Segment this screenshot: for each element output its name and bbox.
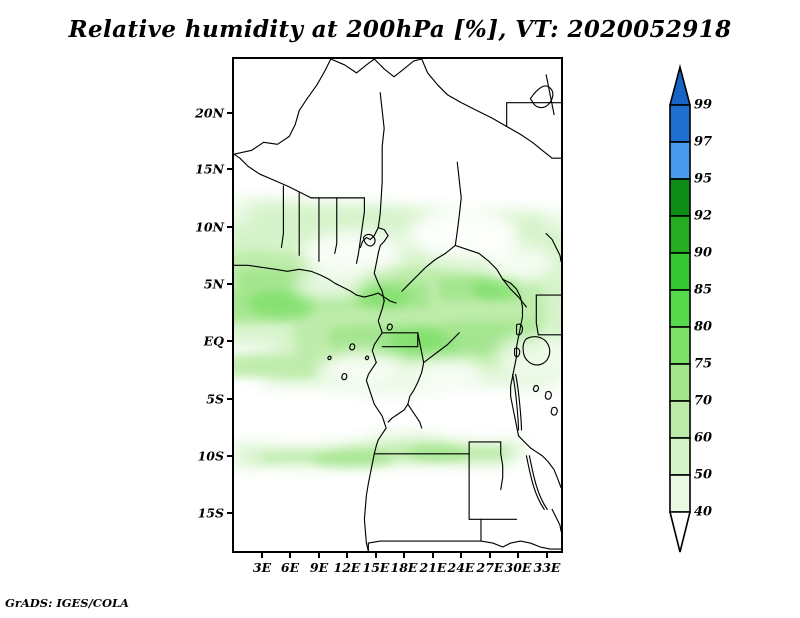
colorbar-band-80-85: [670, 290, 690, 327]
y-axis-label-20n: 20N: [176, 106, 224, 121]
x-tick: [517, 553, 519, 558]
y-axis-label-5n: 5N: [176, 277, 224, 292]
x-tick: [489, 553, 491, 558]
x-tick: [432, 553, 434, 558]
colorbar-label-75: 75: [694, 357, 712, 372]
colorbar-band-90-92: [670, 216, 690, 253]
grads-map-figure: Relative humidity at 200hPa [%], VT: 202…: [0, 0, 800, 618]
colorbar-label-97: 97: [694, 135, 712, 150]
colorbar-arrow-top: [670, 67, 690, 105]
colorbar-label-50: 50: [694, 468, 712, 483]
colorbar-label-85: 85: [694, 283, 712, 298]
colorbar-label-90: 90: [694, 246, 712, 261]
colorbar-label-95: 95: [694, 172, 712, 187]
colorbar-band-60-70: [670, 401, 690, 438]
colorbar-band-75-80: [670, 327, 690, 364]
x-tick: [318, 553, 320, 558]
colorbar-band-92-95: [670, 179, 690, 216]
x-tick: [546, 553, 548, 558]
colorbar-label-60: 60: [694, 431, 712, 446]
y-tick: [227, 340, 232, 342]
x-tick: [375, 553, 377, 558]
colorbar-label-40: 40: [694, 505, 712, 520]
footer-attribution: GrADS: IGES/COLA: [5, 596, 129, 610]
x-tick: [346, 553, 348, 558]
colorbar-label-70: 70: [694, 394, 712, 409]
y-axis-label-15s: 15S: [176, 506, 224, 521]
colorbar-band-40-50: [670, 475, 690, 512]
colorbar-arrow-bottom: [670, 512, 690, 552]
y-axis-label-10s: 10S: [176, 449, 224, 464]
y-tick: [227, 168, 232, 170]
y-axis-label-10n: 10N: [176, 220, 224, 235]
y-axis-label-5s: 5S: [176, 392, 224, 407]
humidity-shading: [234, 59, 561, 551]
y-axis-label-eq: EQ: [176, 334, 224, 349]
colorbar-band-95-97: [670, 142, 690, 179]
y-tick: [227, 512, 232, 514]
x-axis-label-33e: 33E: [525, 560, 569, 575]
colorbar-band-50-60: [670, 438, 690, 475]
y-tick: [227, 112, 232, 114]
map-canvas: [234, 59, 561, 551]
x-tick: [460, 553, 462, 558]
colorbar-band-85-90: [670, 253, 690, 290]
colorbar-label-92: 92: [694, 209, 712, 224]
y-tick: [227, 283, 232, 285]
x-tick: [289, 553, 291, 558]
x-tick: [403, 553, 405, 558]
colorbar-band-97-99: [670, 105, 690, 142]
colorbar-label-99: 99: [694, 98, 712, 113]
y-axis-label-15n: 15N: [176, 162, 224, 177]
y-tick: [227, 398, 232, 400]
x-tick: [261, 553, 263, 558]
colorbar-band-70-75: [670, 364, 690, 401]
colorbar-label-80: 80: [694, 320, 712, 335]
y-tick: [227, 226, 232, 228]
colorbar: 99 97 95 92 90 85 80 75 70 60 50 40: [660, 60, 780, 560]
map-plot-area: [232, 57, 563, 553]
page-title: Relative humidity at 200hPa [%], VT: 202…: [0, 16, 800, 43]
y-tick: [227, 455, 232, 457]
